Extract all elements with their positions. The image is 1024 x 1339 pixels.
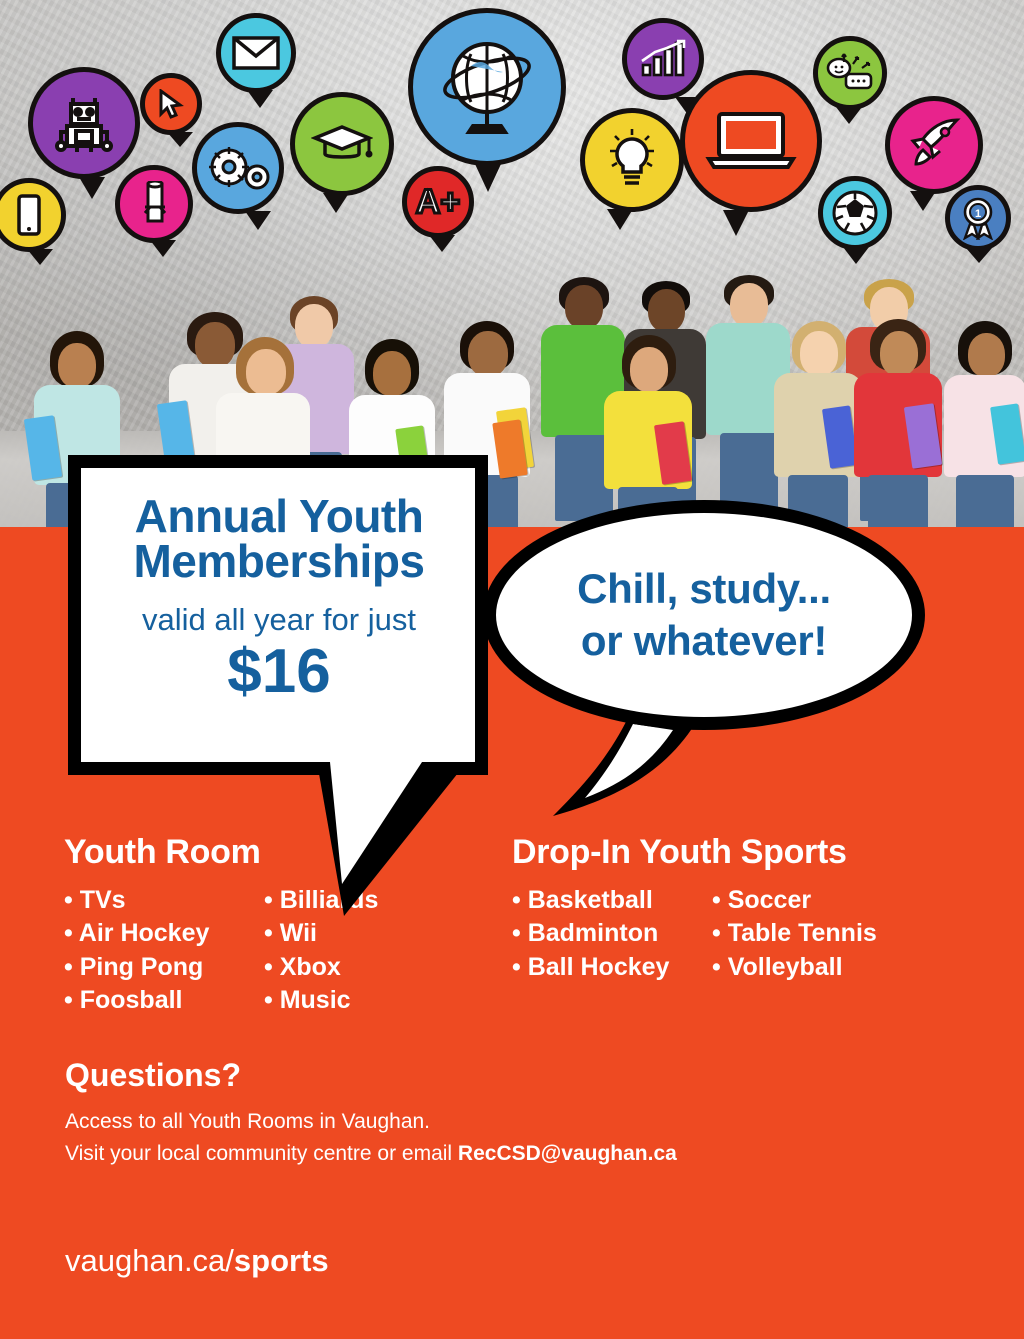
laptop-icon bbox=[704, 109, 798, 173]
list-item: Soccer bbox=[712, 884, 877, 917]
globe-icon bbox=[435, 36, 539, 138]
list-item: Air Hockey bbox=[64, 917, 209, 950]
annual-youth-memberships-bubble: Annual Youth Memberships valid all year … bbox=[68, 455, 488, 775]
doodle-bubble-rocket bbox=[885, 96, 983, 194]
rect-bubble-text: Annual Youth Memberships valid all year … bbox=[81, 468, 475, 762]
list-item: Xbox bbox=[264, 951, 378, 984]
membership-price: $16 bbox=[105, 641, 453, 703]
list-item: Table Tennis bbox=[712, 917, 877, 950]
drop-in-sports-heading: Drop-In Youth Sports bbox=[512, 833, 847, 872]
cursor-arrow-icon bbox=[158, 89, 184, 119]
list-item: Ping Pong bbox=[64, 951, 209, 984]
doodle-bubble-laptop bbox=[680, 70, 822, 212]
list-item: Music bbox=[264, 984, 378, 1017]
doodle-bubble-graduation-cap bbox=[290, 92, 394, 196]
questions-line-1: Access to all Youth Rooms in Vaughan. bbox=[65, 1110, 430, 1134]
doodle-bubble-globe bbox=[408, 8, 566, 166]
youth-room-heading: Youth Room bbox=[64, 833, 261, 872]
chill-line-2: or whatever! bbox=[581, 615, 827, 668]
robot-icon bbox=[55, 92, 113, 154]
svg-text:1: 1 bbox=[975, 208, 981, 220]
footer-url-prefix: vaughan.ca/ bbox=[65, 1243, 234, 1278]
footer-url-bold: sports bbox=[234, 1243, 329, 1278]
doodle-bubble-robot bbox=[28, 67, 140, 179]
list-item: Badminton bbox=[512, 917, 669, 950]
diploma-scroll-icon bbox=[137, 181, 171, 227]
list-item: Ball Hockey bbox=[512, 951, 669, 984]
drop-in-sports-list-left: Basketball Badminton Ball Hockey bbox=[512, 884, 669, 984]
list-item: Foosball bbox=[64, 984, 209, 1017]
drop-in-sports-list-right: Soccer Table Tennis Volleyball bbox=[712, 884, 877, 984]
questions-line-2-prefix: Visit your local community centre or ema… bbox=[65, 1142, 458, 1165]
doodle-bubble-lightbulb bbox=[580, 108, 684, 212]
rect-bubble-tail-fill bbox=[330, 762, 422, 884]
membership-line-3: valid all year for just bbox=[105, 604, 453, 637]
list-item: Wii bbox=[264, 917, 378, 950]
doodle-bubble-bar-chart bbox=[622, 18, 704, 100]
doodle-bubble-gears bbox=[192, 122, 284, 214]
chill-line-1: Chill, study... bbox=[577, 563, 831, 616]
lightbulb-icon bbox=[604, 129, 660, 191]
doodle-bubble-cursor bbox=[140, 73, 202, 135]
contact-email[interactable]: RecCSD@vaughan.ca bbox=[458, 1142, 677, 1165]
membership-line-2: Memberships bbox=[105, 539, 453, 584]
hero-photo: A+ bbox=[0, 0, 1024, 527]
youth-room-list-left: TVs Air Hockey Ping Pong Foosball bbox=[64, 884, 209, 1017]
bar-chart-icon bbox=[639, 39, 687, 79]
membership-line-1: Annual Youth bbox=[105, 494, 453, 539]
poster-root: A+ bbox=[0, 0, 1024, 1339]
questions-heading: Questions? bbox=[65, 1057, 241, 1094]
rocket-icon bbox=[905, 116, 963, 174]
footer-website-url[interactable]: vaughan.ca/sports bbox=[65, 1243, 329, 1279]
list-item: Volleyball bbox=[712, 951, 877, 984]
questions-line-2: Visit your local community centre or ema… bbox=[65, 1142, 677, 1166]
gears-icon bbox=[205, 144, 271, 192]
graduation-cap-icon bbox=[311, 122, 373, 166]
doodle-bubble-chat bbox=[813, 36, 887, 110]
list-item: TVs bbox=[64, 884, 209, 917]
grade-a-plus-label: A+ bbox=[416, 183, 460, 222]
list-item: Basketball bbox=[512, 884, 669, 917]
chill-study-bubble: Chill, study... or whatever! bbox=[483, 500, 925, 730]
doodle-bubble-envelope bbox=[216, 13, 296, 93]
chat-bubbles-icon bbox=[824, 52, 876, 94]
envelope-icon bbox=[232, 36, 280, 70]
